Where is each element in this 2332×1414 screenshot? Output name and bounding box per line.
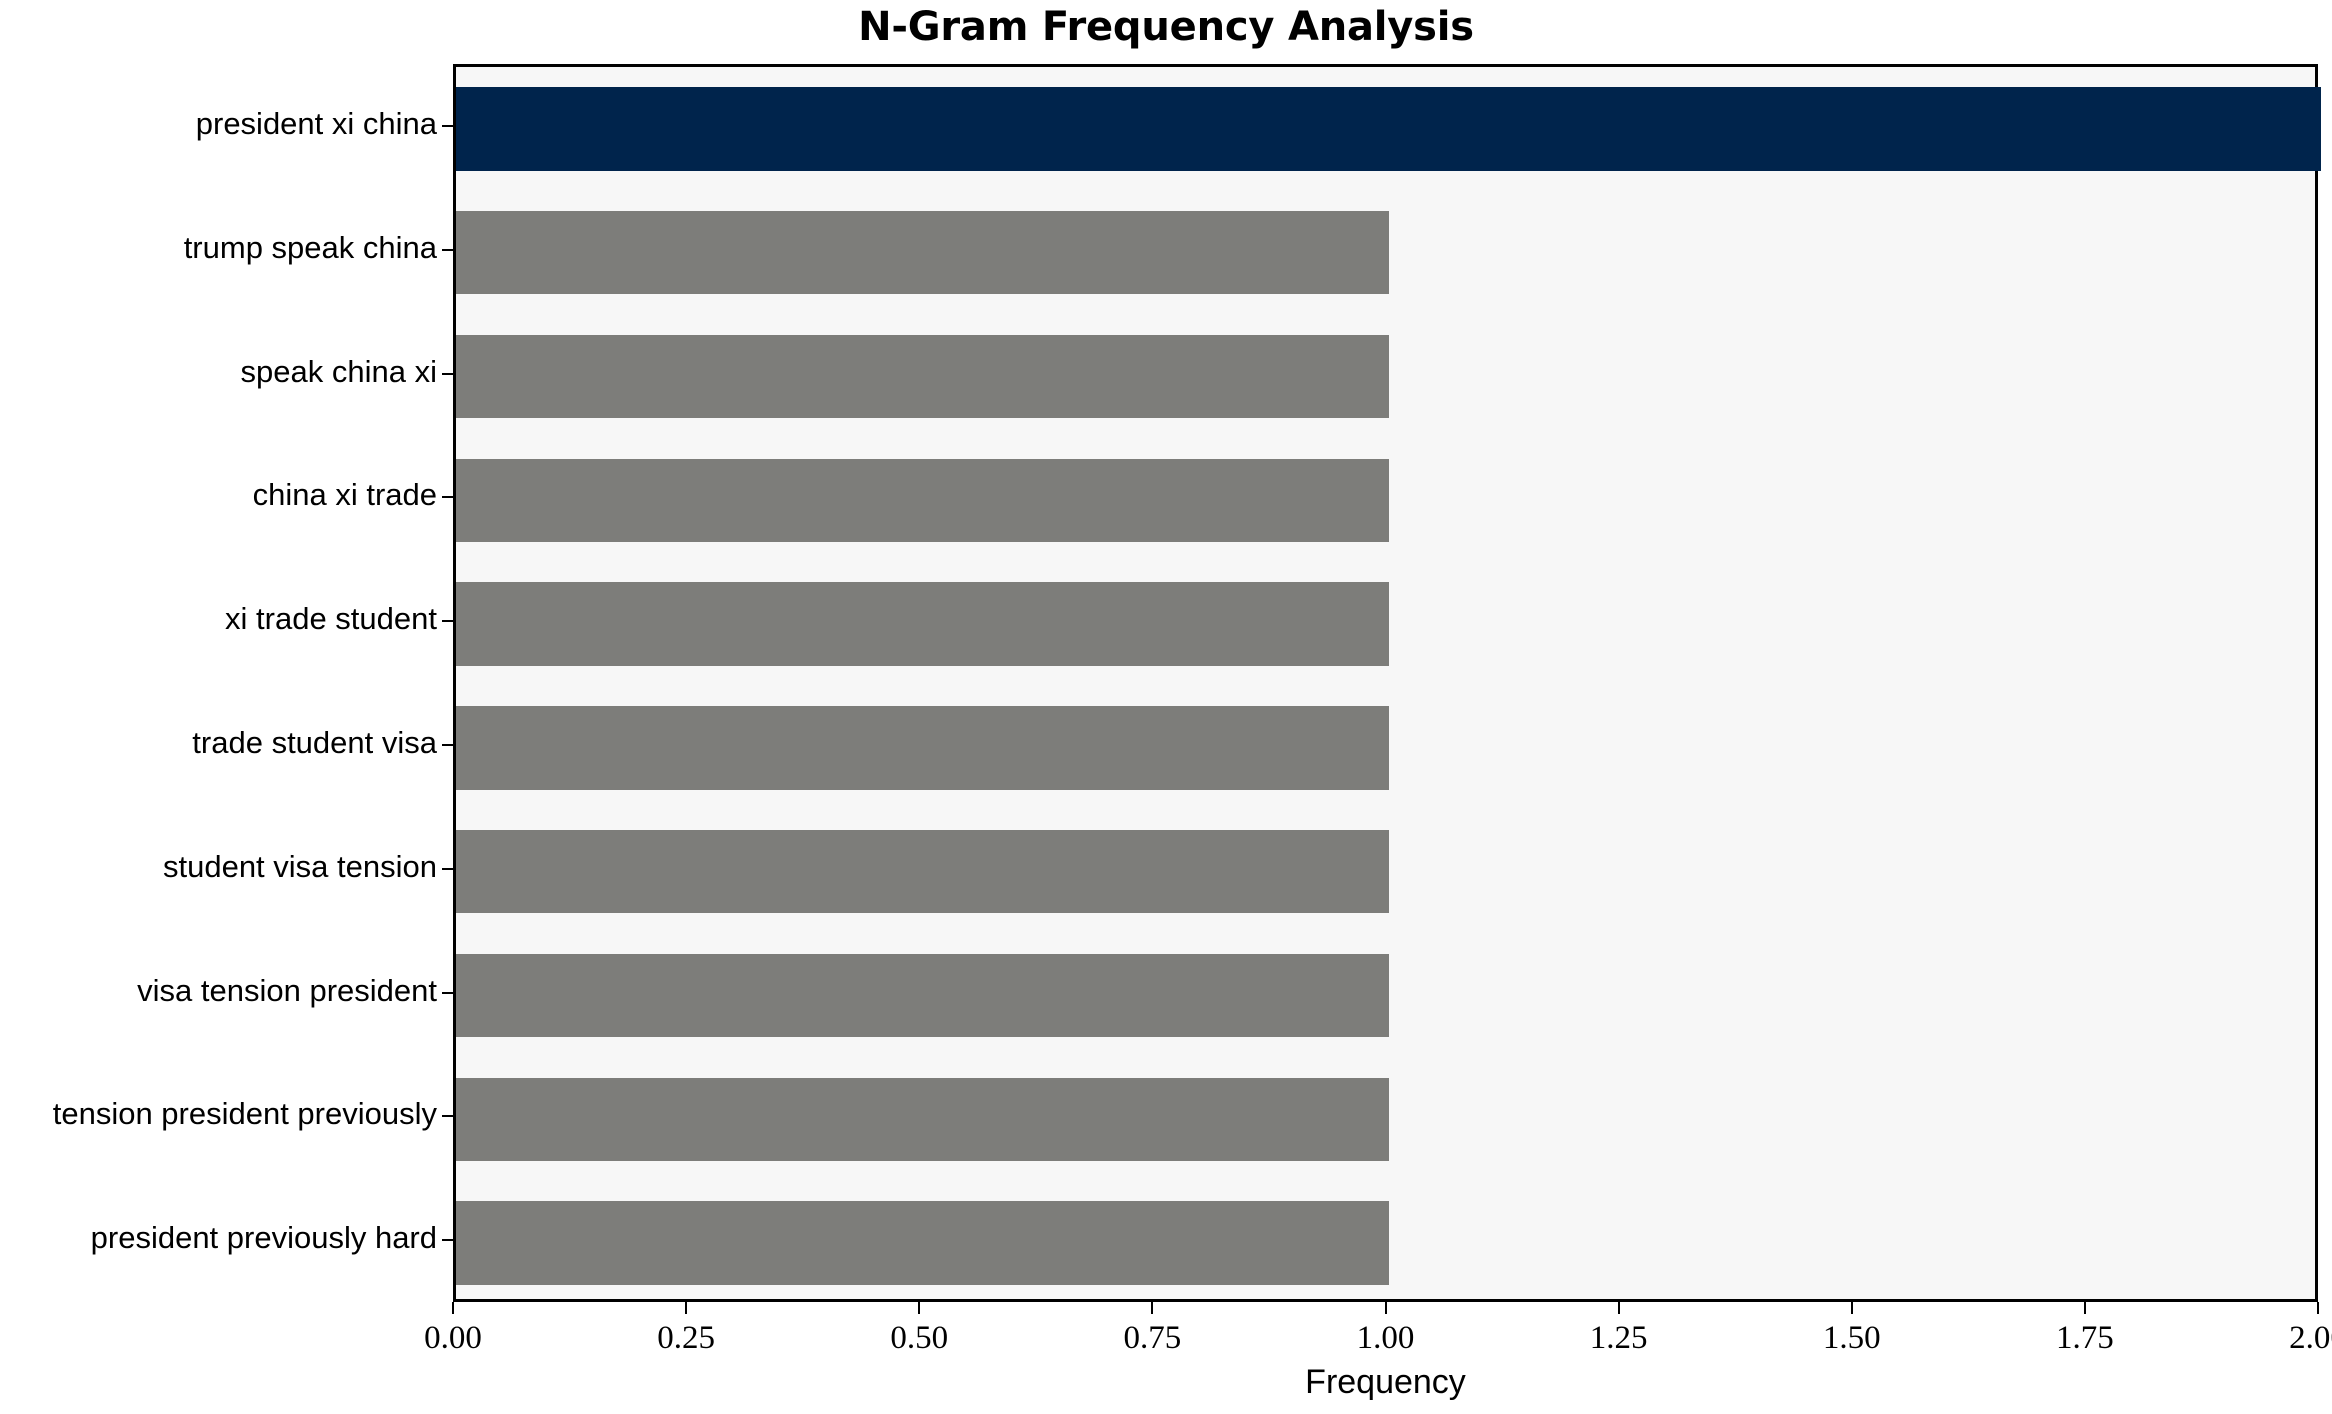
x-tick-label: 1.50 xyxy=(1752,1320,1952,1357)
y-tick-label: trade student visa xyxy=(0,725,437,761)
y-tick-mark xyxy=(442,1239,453,1241)
y-tick-label: president xi china xyxy=(0,106,437,142)
y-tick-mark xyxy=(442,125,453,127)
x-tick-label: 1.00 xyxy=(1286,1320,1486,1357)
y-tick-mark xyxy=(442,992,453,994)
x-tick-mark xyxy=(452,1302,454,1314)
x-tick-label: 0.00 xyxy=(353,1320,553,1357)
x-tick-label: 0.75 xyxy=(1052,1320,1252,1357)
x-tick-mark xyxy=(685,1302,687,1314)
x-tick-mark xyxy=(1851,1302,1853,1314)
y-tick-mark xyxy=(442,373,453,375)
y-tick-mark xyxy=(442,620,453,622)
chart-figure: N-Gram Frequency Analysis president xi c… xyxy=(0,0,2332,1414)
y-tick-label: tension president previously xyxy=(0,1096,437,1132)
bar xyxy=(456,1201,1389,1285)
y-tick-mark xyxy=(442,496,453,498)
x-tick-label: 0.50 xyxy=(819,1320,1019,1357)
x-tick-mark xyxy=(1385,1302,1387,1314)
y-tick-mark xyxy=(442,1115,453,1117)
x-tick-label: 1.75 xyxy=(1985,1320,2185,1357)
plot-area xyxy=(453,64,2318,1302)
bar xyxy=(456,87,2321,171)
bar xyxy=(456,459,1389,543)
x-tick-label: 0.25 xyxy=(586,1320,786,1357)
bar xyxy=(456,954,1389,1038)
y-tick-mark xyxy=(442,744,453,746)
bar xyxy=(456,335,1389,419)
x-tick-mark xyxy=(918,1302,920,1314)
y-tick-mark xyxy=(442,249,453,251)
x-tick-label: 1.25 xyxy=(1519,1320,1719,1357)
bars-container xyxy=(456,67,2315,1299)
y-tick-label: trump speak china xyxy=(0,230,437,266)
x-tick-mark xyxy=(1618,1302,1620,1314)
x-tick-mark xyxy=(2084,1302,2086,1314)
y-tick-label: student visa tension xyxy=(0,849,437,885)
y-tick-label: visa tension president xyxy=(0,973,437,1009)
bar xyxy=(456,830,1389,914)
x-tick-label: 2.00 xyxy=(2218,1320,2332,1357)
y-tick-label: china xi trade xyxy=(0,477,437,513)
x-axis-label: Frequency xyxy=(453,1363,2318,1402)
x-tick-mark xyxy=(2317,1302,2319,1314)
y-tick-label: president previously hard xyxy=(0,1220,437,1256)
bar xyxy=(456,211,1389,295)
bar xyxy=(456,582,1389,666)
x-tick-mark xyxy=(1151,1302,1153,1314)
y-tick-label: xi trade student xyxy=(0,601,437,637)
bar xyxy=(456,1078,1389,1162)
y-tick-mark xyxy=(442,868,453,870)
y-tick-label: speak china xi xyxy=(0,354,437,390)
bar xyxy=(456,706,1389,790)
page-title: N-Gram Frequency Analysis xyxy=(0,4,2332,50)
